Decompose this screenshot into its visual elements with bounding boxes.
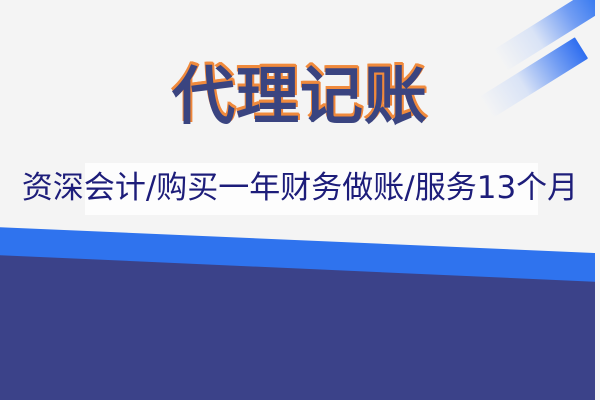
banner-headline: 代理记账: [0, 64, 600, 130]
banner-subtitle: 资深会计/购买一年财务做账/服务13个月: [0, 168, 600, 210]
promo-banner: 代理记账 资深会计/购买一年财务做账/服务13个月: [0, 0, 600, 400]
